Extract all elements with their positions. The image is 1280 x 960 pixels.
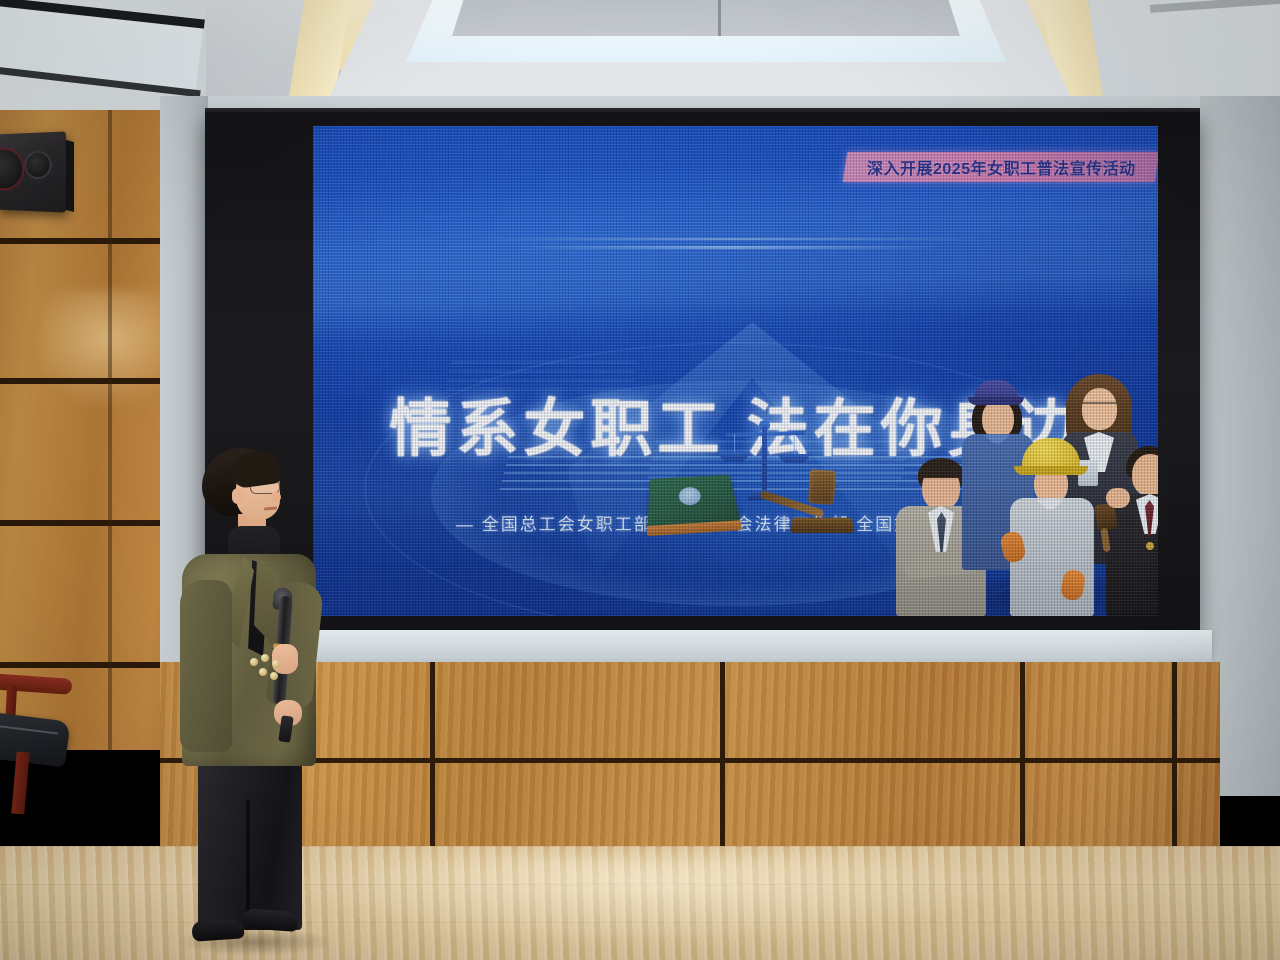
scales-pan-right <box>779 454 809 463</box>
slide-banner-text: 深入开展2025年女职工普法宣传活动 <box>867 155 1136 179</box>
figure2-head <box>982 400 1014 438</box>
law-book-emblem <box>679 487 702 506</box>
speaker-cone-large <box>0 147 24 191</box>
scales-pan-left <box>719 452 749 461</box>
brooch-bead-2 <box>261 654 269 662</box>
lower-wood-seam-v5 <box>1172 662 1177 858</box>
figure-woman-worker-yellow-hardhat <box>1006 438 1098 616</box>
slide-banner: 深入开展2025年女职工普法宣传活动 <box>843 152 1158 182</box>
figure5-robe-button <box>1146 542 1154 550</box>
figure1-fringe <box>919 462 963 478</box>
ceiling-led-inner <box>452 0 960 36</box>
law-book-icon <box>647 475 740 528</box>
wall-speaker <box>0 131 66 212</box>
title-rule-upper <box>473 238 993 240</box>
brooch-bead-4 <box>259 668 267 676</box>
figure2-cap-brim <box>968 397 1024 405</box>
chair-seat-cushion <box>0 711 70 768</box>
figure5-hand <box>1106 488 1130 508</box>
brooch-bead-1 <box>250 658 258 666</box>
figure4-glasses <box>1082 402 1117 410</box>
led-wall-screen[interactable]: 深入开展2025年女职工普法宣传活动 情系女职工 法在你身边 — 全国总工会女职… <box>313 126 1158 616</box>
brooch-bead-3 <box>272 660 280 668</box>
wood-vertical-seam <box>108 110 112 750</box>
brooch-bead-5 <box>270 672 278 680</box>
presenter-shoe-right <box>241 908 298 932</box>
lower-wood-seam-v3 <box>720 662 725 858</box>
lower-wood-seam-v4 <box>1020 662 1025 858</box>
figure5-gavel <box>1094 504 1128 548</box>
presenter-arm-left <box>180 580 232 752</box>
figure5-head <box>1132 454 1158 496</box>
presenter-speaking <box>176 448 336 960</box>
law-book-pages <box>647 520 743 536</box>
illustration-figures <box>898 374 1158 616</box>
presenter-ear <box>232 488 244 504</box>
lower-wood-seam-v2 <box>430 662 435 858</box>
presenter-shoe-left <box>191 918 244 942</box>
gavel-icon <box>761 466 861 544</box>
title-top-rule <box>513 246 943 249</box>
gavel-head <box>808 469 836 505</box>
screenshot-stage: 深入开展2025年女职工普法宣传活动 情系女职工 法在你身边 — 全国总工会女职… <box>0 0 1280 960</box>
floor-light-reflection <box>300 856 1000 946</box>
presenter-trousers <box>198 748 302 930</box>
ceiling-led-seam <box>718 0 721 36</box>
legal-icons-group <box>653 418 863 548</box>
gold-brooch-icon <box>250 654 286 684</box>
gavel-sound-block <box>790 518 855 533</box>
wooden-chair <box>0 672 86 858</box>
speaker-cone-small <box>24 150 51 179</box>
figure3-hardhat-brim <box>1014 466 1088 475</box>
figure-male-judge-black-robe <box>1108 446 1158 616</box>
